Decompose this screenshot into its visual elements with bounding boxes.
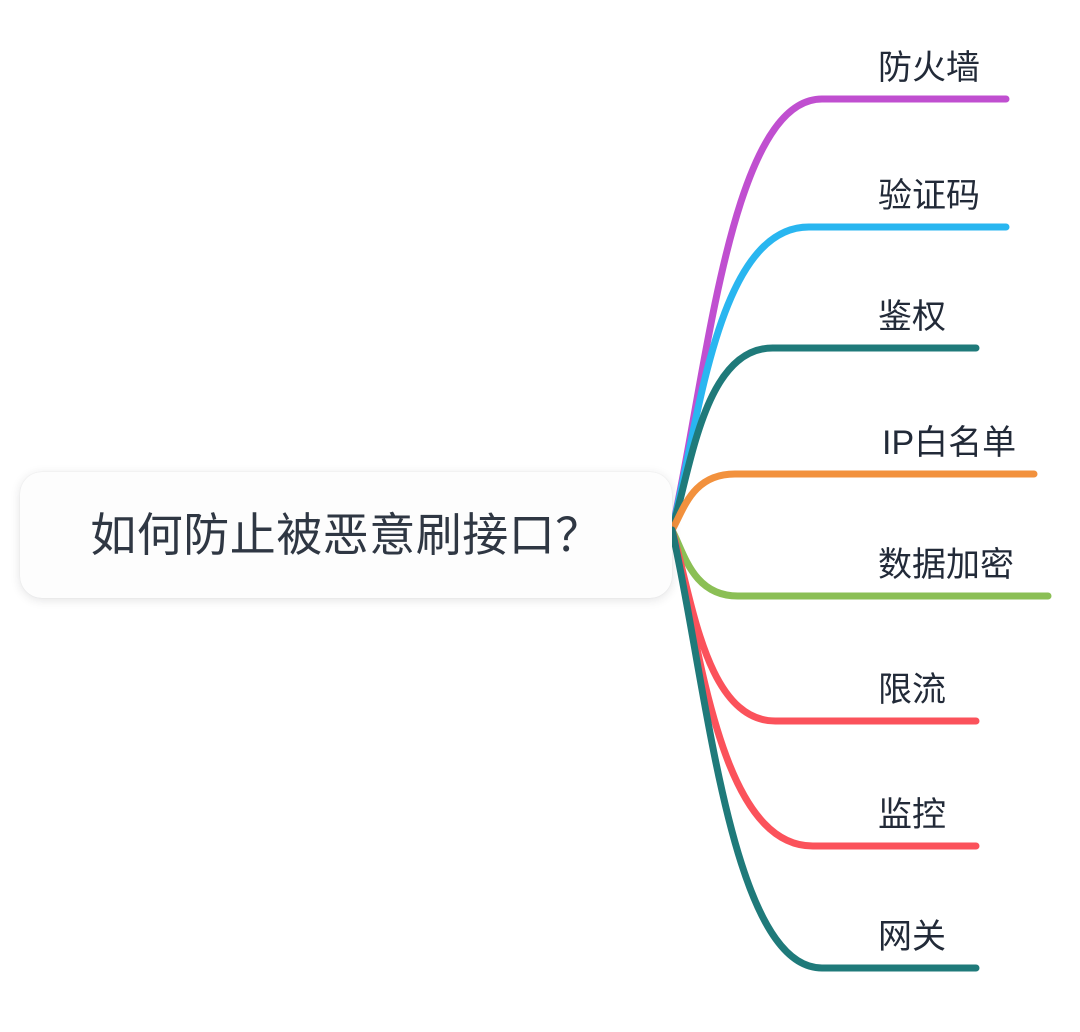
branch-label-7[interactable]: 监控: [878, 798, 946, 832]
mindmap-canvas: 如何防止被恶意刷接口？ 防火墙验证码鉴权IP白名单数据加密限流监控网关: [0, 0, 1080, 1032]
branch-label-3[interactable]: 鉴权: [878, 300, 946, 334]
branch-label-2[interactable]: 验证码: [878, 179, 980, 213]
branch-label-8[interactable]: 网关: [878, 920, 946, 954]
branch-label-1[interactable]: 防火墙: [878, 51, 980, 85]
branch-curve-8[interactable]: [672, 530, 976, 968]
branch-curve-1[interactable]: [672, 99, 1006, 530]
branch-curve-4[interactable]: [672, 474, 1034, 530]
central-topic-node[interactable]: 如何防止被恶意刷接口？: [20, 472, 672, 598]
branch-label-4[interactable]: IP白名单: [882, 426, 1016, 460]
central-topic-text: 如何防止被恶意刷接口？: [90, 512, 602, 558]
branch-label-6[interactable]: 限流: [878, 673, 946, 707]
branch-label-5[interactable]: 数据加密: [878, 548, 1014, 582]
branch-curve-2[interactable]: [672, 227, 1006, 530]
